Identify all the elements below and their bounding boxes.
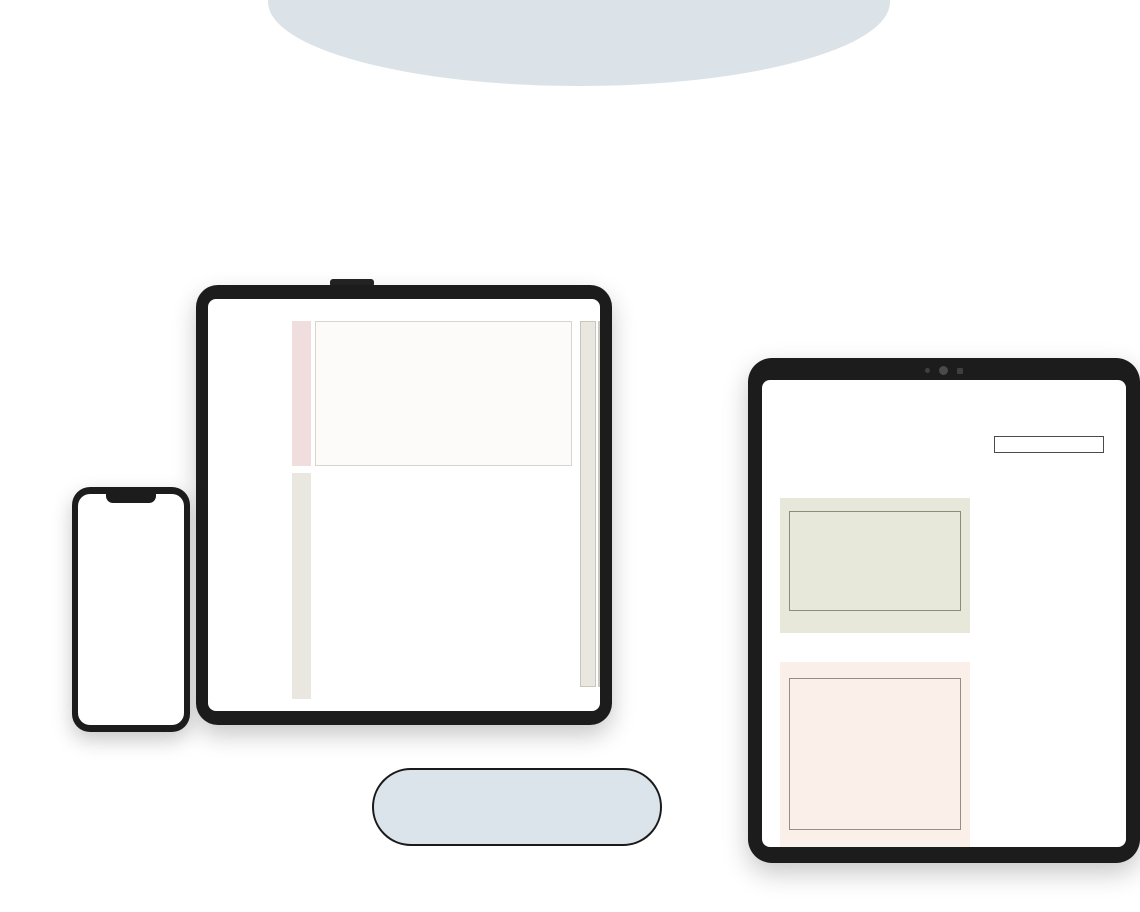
tablet-right-camera-cluster (748, 366, 1140, 375)
phone-device (72, 487, 190, 732)
sensor-icon (957, 368, 963, 374)
routine-notes-card (780, 662, 970, 847)
routine-notes-lines[interactable] (789, 678, 961, 830)
tablet-right-screen[interactable] (762, 380, 1126, 847)
chore-columns[interactable] (315, 473, 572, 699)
tablet-right-device (748, 358, 1140, 863)
must-be-done-lines[interactable] (789, 511, 961, 611)
tablet-left-device (196, 285, 612, 725)
chore-chart-grid (292, 321, 592, 699)
camera-dot-icon (925, 368, 930, 373)
notes-panel[interactable] (598, 321, 600, 687)
day-of-week-strip (292, 321, 311, 466)
tablet-left-screen[interactable] (208, 299, 600, 711)
phone-notch (106, 494, 156, 503)
chore-dot-grid[interactable] (315, 321, 572, 466)
chore-chart-page (208, 299, 600, 711)
must-be-done-card (780, 498, 970, 633)
chores-axis-label (292, 473, 311, 699)
date-field[interactable] (994, 436, 1104, 453)
notes-axis-label (580, 321, 596, 687)
shop-now-button[interactable] (372, 768, 662, 846)
phone-screen[interactable] (78, 494, 184, 725)
camera-lens-icon (939, 366, 948, 375)
